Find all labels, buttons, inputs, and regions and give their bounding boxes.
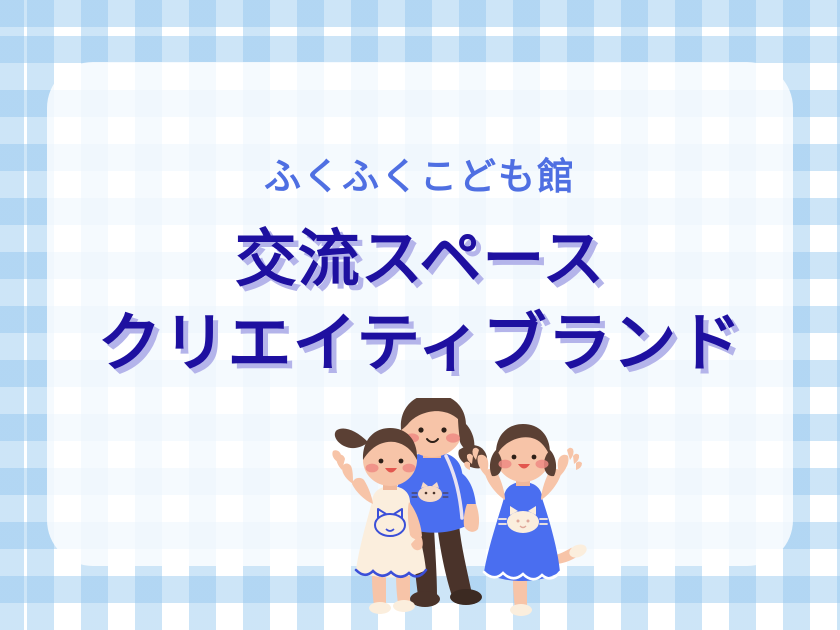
poster-subtitle: ふくふくこども館 [0, 156, 840, 199]
poster-title-line-2: クリエイティブランド [0, 312, 840, 376]
figure-girl-left [332, 428, 426, 614]
poster-title-line-1: 交流スペース [0, 228, 840, 290]
poster-canvas: ふくふくこども館 交流スペース クリエイティブランド [0, 0, 840, 630]
three-children-and-parent-illustration [320, 398, 620, 630]
